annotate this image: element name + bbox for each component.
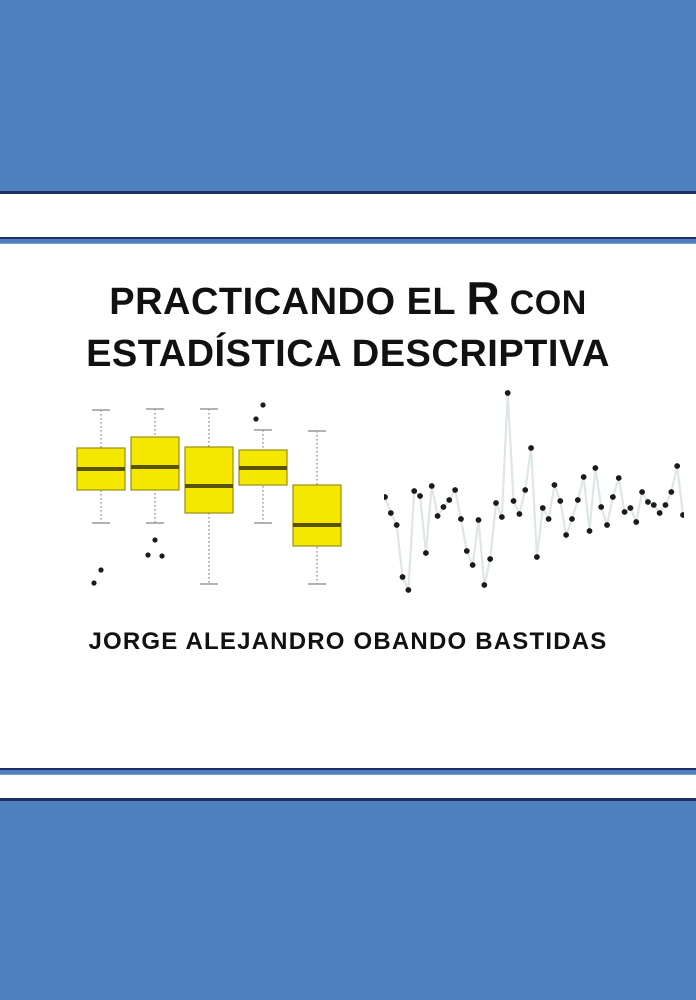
line-series-marker — [628, 505, 634, 511]
page-title: PRACTICANDO EL R CON ESTADÍSTICA DESCRIP… — [0, 268, 696, 379]
line-series-marker — [663, 502, 669, 508]
line-series-marker — [493, 500, 499, 506]
boxplot-chart — [62, 388, 362, 603]
line-series-marker — [441, 504, 447, 510]
line-series-marker — [622, 509, 628, 515]
line-series-marker — [476, 517, 482, 523]
boxplot-outlier — [91, 580, 96, 585]
line-series-marker — [417, 493, 423, 499]
boxplot-group — [293, 431, 341, 584]
line-series-marker — [645, 499, 651, 505]
boxplot-outlier — [98, 567, 103, 572]
title-line-1: PRACTICANDO EL R CON — [0, 268, 696, 329]
title-post-text: CON — [500, 284, 587, 322]
line-series-marker — [540, 505, 546, 511]
line-chart — [384, 388, 684, 603]
line-series-marker — [674, 463, 680, 469]
line-series-marker — [528, 445, 534, 451]
line-series-marker — [639, 489, 645, 495]
line-series-marker — [680, 512, 684, 518]
line-series-marker — [563, 532, 569, 538]
boxplot-group — [77, 410, 125, 586]
boxplot-outlier — [159, 553, 164, 558]
line-series-marker — [610, 494, 616, 500]
lower-divider-rule — [0, 768, 696, 775]
line-series-marker — [516, 511, 522, 517]
line-series-marker — [581, 474, 587, 480]
cover-graphics — [0, 388, 696, 603]
line-series-marker — [435, 513, 441, 519]
line-series-marker — [552, 482, 558, 488]
title-r-emphasis: R — [467, 272, 500, 324]
line-series-marker — [388, 510, 394, 516]
boxplot-outlier — [260, 402, 265, 407]
boxplot-box — [131, 437, 179, 490]
upper-divider-rule — [0, 237, 696, 244]
line-series-marker — [470, 562, 476, 568]
line-series-marker — [511, 498, 517, 504]
line-series-marker — [405, 587, 411, 593]
line-series-marker — [458, 516, 464, 522]
line-series-marker — [604, 522, 610, 528]
line-series-marker — [400, 574, 406, 580]
boxplot-group — [131, 409, 179, 559]
line-series-marker — [446, 497, 452, 503]
line-series-marker — [411, 488, 417, 494]
title-line-2: ESTADÍSTICA DESCRIPTIVA — [0, 329, 696, 379]
author-name: JORGE ALEJANDRO OBANDO BASTIDAS — [0, 628, 696, 656]
line-series-marker — [616, 475, 622, 481]
top-blue-band — [0, 0, 696, 194]
line-series-marker — [668, 489, 674, 495]
line-series-marker — [487, 556, 493, 562]
line-series-marker — [481, 582, 487, 588]
line-series-marker — [384, 494, 388, 500]
boxplot-group — [239, 402, 287, 523]
line-series-marker — [452, 487, 458, 493]
line-series-marker — [423, 550, 429, 556]
boxplot-box — [185, 447, 233, 513]
line-series-path — [385, 393, 683, 590]
line-series-marker — [575, 497, 581, 503]
boxplot-outlier — [145, 552, 150, 557]
line-series-marker — [651, 502, 657, 508]
line-series-marker — [657, 510, 663, 516]
line-series-marker — [429, 483, 435, 489]
line-series-marker — [569, 516, 575, 522]
line-series-marker — [592, 465, 598, 471]
line-series-marker — [633, 519, 639, 525]
line-series-marker — [499, 514, 505, 520]
bottom-blue-band — [0, 798, 696, 1000]
line-series-marker — [546, 516, 552, 522]
boxplot-box — [293, 485, 341, 546]
book-cover: PRACTICANDO EL R CON ESTADÍSTICA DESCRIP… — [0, 0, 696, 1000]
line-series-marker — [557, 498, 563, 504]
boxplot-outlier — [152, 537, 157, 542]
line-series-marker — [522, 487, 528, 493]
title-pre-text: PRACTICANDO EL — [109, 281, 466, 323]
line-series-marker — [394, 522, 400, 528]
boxplot-outlier — [253, 416, 258, 421]
line-series-marker — [464, 548, 470, 554]
boxplot-group — [185, 409, 233, 584]
line-series-marker — [598, 504, 604, 510]
line-series-marker — [534, 554, 540, 560]
line-series-marker — [587, 528, 593, 534]
line-series-marker — [505, 390, 511, 396]
